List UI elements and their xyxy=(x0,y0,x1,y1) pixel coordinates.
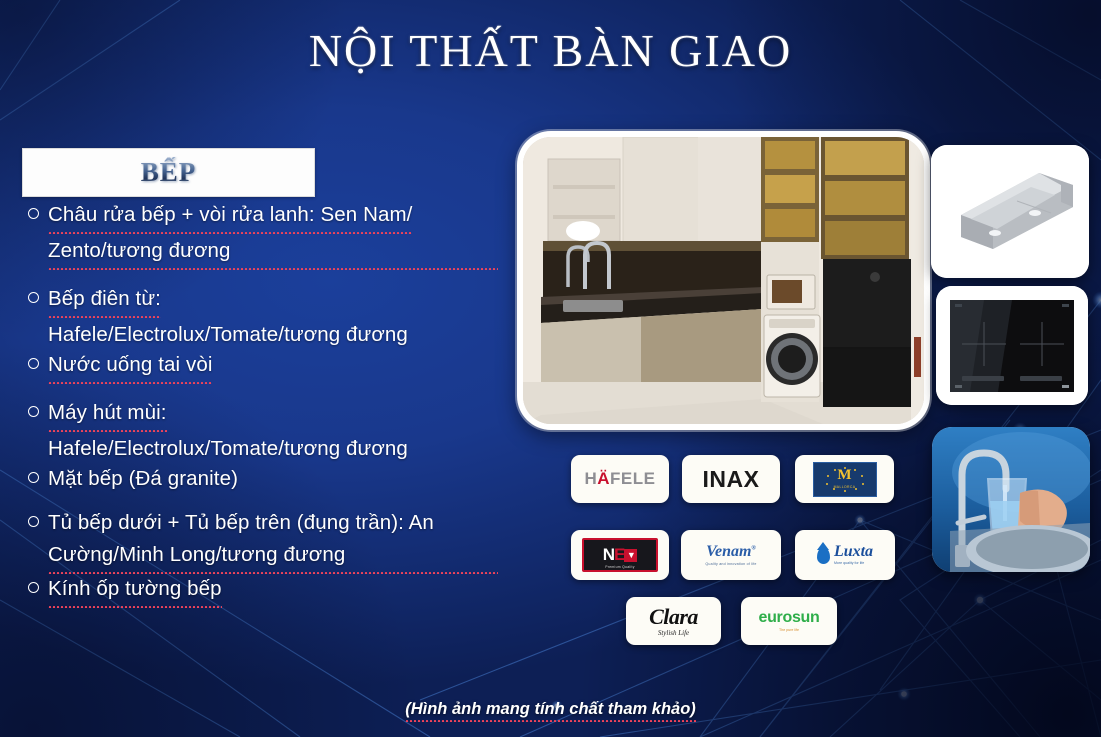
logo-inax-text: INAX xyxy=(703,466,760,493)
logo-eurosun-sub: The pure life xyxy=(758,629,819,633)
cooktop-illustration xyxy=(936,286,1088,405)
list-item: Bếp điên từ: Hafele/Electrolux/Tomate/tư… xyxy=(18,284,498,384)
logo-neo-text: NE▼ xyxy=(603,545,638,565)
bullet-marker-icon xyxy=(18,200,48,230)
range-hood-image xyxy=(931,145,1089,278)
logo-clara-sub: Stylish Life xyxy=(649,630,698,637)
logo-luxta: Luxta More quality for life xyxy=(795,530,895,580)
logo-venam-sub: Quality and innovation of life xyxy=(705,563,756,567)
water-tap-illustration xyxy=(932,427,1090,572)
list-item: Máy hút mùi: Hafele/Electrolux/Tomate/tư… xyxy=(18,398,498,494)
list-item-line: Bếp điên từ: xyxy=(48,284,161,318)
list-item-line: Tủ bếp dưới + Tủ bếp trên (đụng trần): A… xyxy=(48,508,434,538)
logo-venam: Venam® Quality and innovation of life xyxy=(681,530,781,580)
bullet-marker-icon xyxy=(18,398,48,428)
footer-note-text: (Hình ảnh mang tính chất tham khảo) xyxy=(405,700,696,722)
water-purifier-tap-image xyxy=(932,427,1090,572)
logo-clara: Clara Stylish Life xyxy=(626,597,721,645)
list-item-line: Nước uống tai vòi xyxy=(48,350,212,384)
induction-cooktop-image xyxy=(936,286,1088,405)
slide-root: NỘI THẤT BÀN GIAO BẾP Châu rửa bếp + vòi… xyxy=(0,0,1101,737)
logo-hafele: HÄFELE xyxy=(571,455,669,503)
kitchen-illustration xyxy=(523,137,924,424)
logo-eurosun: eurosun The pure life xyxy=(741,597,837,645)
logo-clara-text: Clara xyxy=(649,606,698,628)
feature-list: Châu rửa bếp + vòi rửa lanh: Sen Nam/ Ze… xyxy=(18,200,498,622)
list-item-line: Hafele/Electrolux/Tomate/tương đương xyxy=(48,434,498,464)
water-drop-icon xyxy=(817,547,830,564)
logo-eurosun-content: eurosun The pure life xyxy=(758,610,819,633)
logo-hafele-text: HÄFELE xyxy=(584,469,655,489)
logo-neo-sub: Premium Quality xyxy=(605,565,635,569)
list-item-line: Châu rửa bếp + vòi rửa lanh: Sen Nam/ xyxy=(48,200,412,234)
mallorca-stars-icon xyxy=(815,464,875,495)
list-item-line: Kính ốp tường bếp xyxy=(48,574,222,608)
list-item-line: Mặt bếp (Đá granite) xyxy=(48,464,238,494)
bullet-marker-icon xyxy=(18,284,48,314)
bullet-marker-icon xyxy=(18,508,48,538)
logo-neo-badge: NE▼ Premium Quality xyxy=(582,538,658,572)
logo-venam-content: Venam® Quality and innovation of life xyxy=(705,544,756,567)
section-header-box: BẾP xyxy=(22,148,315,197)
kitchen-render-image xyxy=(517,131,930,430)
bullet-marker-icon xyxy=(18,350,48,380)
list-item-line: Máy hút mùi: xyxy=(48,398,167,432)
logo-mallorca: M MALLORCA xyxy=(795,455,894,503)
page-title: NỘI THẤT BÀN GIAO xyxy=(0,24,1101,77)
logo-luxta-text: Luxta xyxy=(834,543,873,560)
section-header-label: BẾP xyxy=(141,157,197,188)
bullet-marker-icon xyxy=(18,574,48,604)
logo-eurosun-text: eurosun xyxy=(758,610,819,626)
footer-note: (Hình ảnh mang tính chất tham khảo) xyxy=(0,700,1101,719)
list-item: Tủ bếp dưới + Tủ bếp trên (đụng trần): A… xyxy=(18,508,498,608)
list-item-line: Cường/Minh Long/tương đương xyxy=(48,540,498,574)
logo-clara-content: Clara Stylish Life xyxy=(649,606,698,637)
bullet-marker-icon xyxy=(18,464,48,494)
list-item-line: Zento/tương đương xyxy=(48,236,498,270)
logo-luxta-content: Luxta More quality for life xyxy=(817,544,873,566)
list-item-line: Hafele/Electrolux/Tomate/tương đương xyxy=(48,320,498,350)
range-hood-illustration xyxy=(931,145,1089,278)
logo-inax: INAX xyxy=(682,455,780,503)
logo-mallorca-badge: M MALLORCA xyxy=(813,462,877,497)
logo-venam-text: Venam® xyxy=(705,544,756,560)
logo-luxta-sub: More quality for life xyxy=(834,562,873,566)
logo-neo: NE▼ Premium Quality xyxy=(571,530,669,580)
list-item: Châu rửa bếp + vòi rửa lanh: Sen Nam/ Ze… xyxy=(18,200,498,270)
